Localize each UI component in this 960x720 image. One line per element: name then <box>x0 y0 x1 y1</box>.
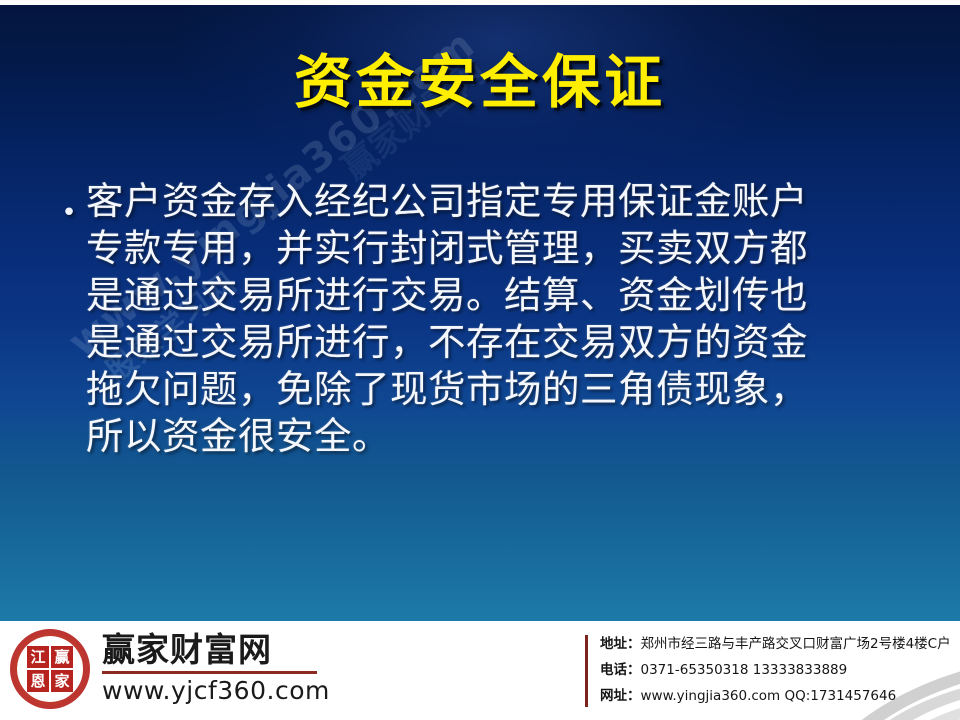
body-line: 专款专用，并实行封闭式管理，买卖双方都 <box>86 225 932 272</box>
top-white-strip <box>0 0 960 5</box>
body-line: 拖欠问题，免除了现货市场的三角债现象， <box>86 366 932 413</box>
contact-info: 地址：郑州市经三路与丰产路交叉口财富广场2号楼4楼C户 电话：0371-6535… <box>600 631 960 709</box>
seal-char: 家 <box>51 670 73 692</box>
brand-divider <box>102 671 317 674</box>
slide-title: 资金安全保证 <box>0 52 960 113</box>
seal-char: 江 <box>27 646 49 668</box>
contact-row-address: 地址：郑州市经三路与丰产路交叉口财富广场2号楼4楼C户 <box>600 631 960 657</box>
footer-vertical-divider <box>585 635 588 707</box>
contact-value: 郑州市经三路与丰产路交叉口财富广场2号楼4楼C户 <box>641 636 951 652</box>
contact-value[interactable]: www.yingjia360.com QQ:1731457646 <box>641 688 897 704</box>
slide-footer: 江 赢 恩 家 赢家财富网 www.yjcf360.com 地址：郑州市经三路与… <box>0 621 960 720</box>
site-logo[interactable]: 江 赢 恩 家 赢家财富网 www.yjcf360.com <box>8 627 330 711</box>
bullet-point-icon: • <box>52 200 86 226</box>
seal-char: 恩 <box>27 670 49 692</box>
body-line: 是通过交易所进行，不存在交易双方的资金 <box>86 319 932 366</box>
body-line: 是通过交易所进行交易。结算、资金划传也 <box>86 272 932 319</box>
contact-row-website: 网址：www.yingjia360.com QQ:1731457646 <box>600 683 960 709</box>
body-paragraph: 客户资金存入经纪公司指定专用保证金账户 专款专用，并实行封闭式管理，买卖双方都 … <box>86 178 932 460</box>
contact-label: 电话： <box>600 662 641 678</box>
brand-name: 赢家财富网 <box>102 632 330 668</box>
brand-url[interactable]: www.yjcf360.com <box>102 676 330 706</box>
contact-row-phone: 电话：0371-65350318 13333833889 <box>600 657 960 683</box>
body-line: 所以资金很安全。 <box>86 413 932 460</box>
brand-block: 赢家财富网 www.yjcf360.com <box>102 632 330 706</box>
slide-body: • 客户资金存入经纪公司指定专用保证金账户 专款专用，并实行封闭式管理，买卖双方… <box>52 178 932 460</box>
seal-character-grid: 江 赢 恩 家 <box>27 646 73 692</box>
body-line: 客户资金存入经纪公司指定专用保证金账户 <box>86 178 932 225</box>
contact-label: 网址： <box>600 688 641 704</box>
seal-logo-icon: 江 赢 恩 家 <box>8 627 92 711</box>
contact-value: 0371-65350318 13333833889 <box>641 662 848 678</box>
contact-label: 地址： <box>600 636 641 652</box>
presentation-slide: www.yingjia360.com 股票学习网 赢家财富网 资金安全保证 • … <box>0 0 960 720</box>
seal-char: 赢 <box>51 646 73 668</box>
